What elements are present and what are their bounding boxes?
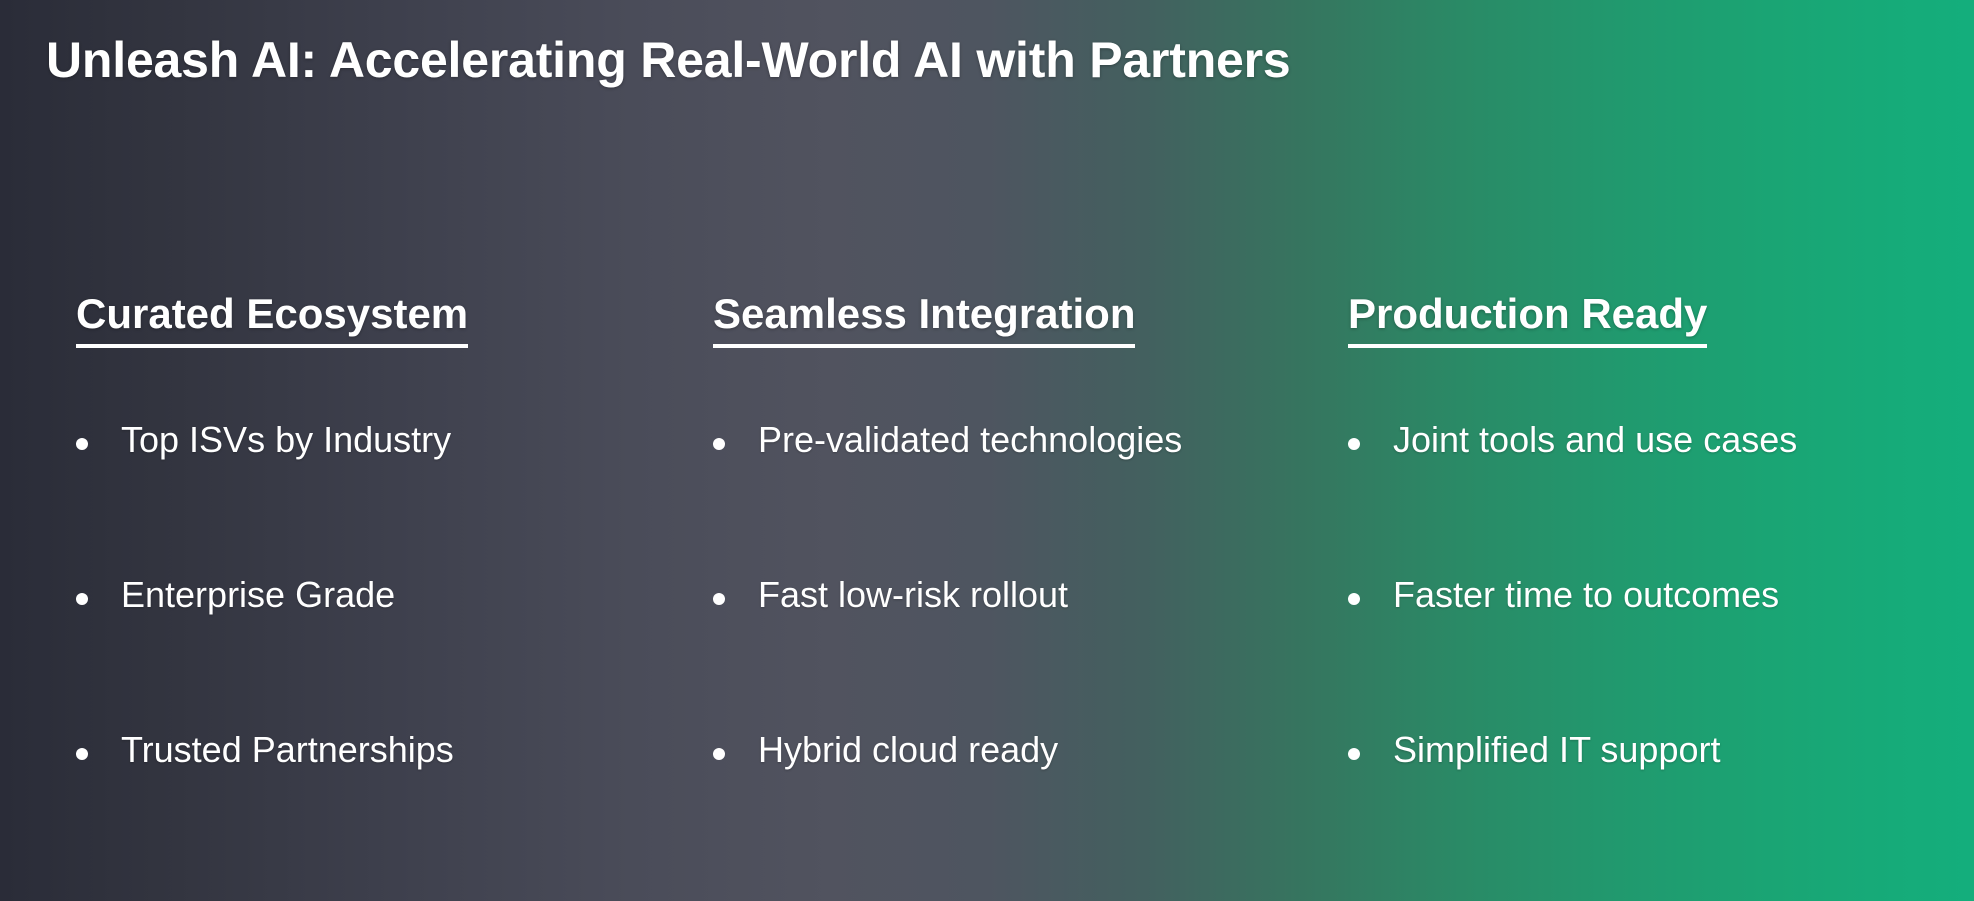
- bullet-dot-icon: [76, 593, 88, 605]
- list-item: Hybrid cloud ready: [713, 728, 1297, 883]
- list-item-label: Joint tools and use cases: [1393, 418, 1797, 461]
- bullet-dot-icon: [713, 438, 725, 450]
- list-item-label: Hybrid cloud ready: [758, 728, 1058, 771]
- columns-container: Curated Ecosystem Top ISVs by Industry E…: [0, 290, 1974, 883]
- bullet-dot-icon: [1348, 748, 1360, 760]
- list-item-label: Faster time to outcomes: [1393, 573, 1779, 616]
- column-heading-1: Curated Ecosystem: [76, 290, 468, 348]
- list-item: Fast low-risk rollout: [713, 573, 1297, 728]
- list-item-label: Simplified IT support: [1393, 728, 1720, 771]
- list-item: Pre-validated technologies: [713, 418, 1297, 573]
- bullet-dot-icon: [713, 593, 725, 605]
- bullet-dot-icon: [1348, 593, 1360, 605]
- page-title: Unleash AI: Accelerating Real-World AI w…: [46, 32, 1291, 90]
- column-heading-2: Seamless Integration: [713, 290, 1135, 348]
- list-item: Joint tools and use cases: [1348, 418, 1974, 573]
- bullet-dot-icon: [76, 438, 88, 450]
- bullet-dot-icon: [713, 748, 725, 760]
- column-seamless-integration: Seamless Integration Pre-validated techn…: [645, 290, 1297, 883]
- list-item: Trusted Partnerships: [76, 728, 645, 883]
- list-item-label: Trusted Partnerships: [121, 728, 454, 771]
- list-item: Top ISVs by Industry: [76, 418, 645, 573]
- bullet-list-3: Joint tools and use cases Faster time to…: [1348, 418, 1974, 883]
- column-heading-3: Production Ready: [1348, 290, 1707, 348]
- list-item: Simplified IT support: [1348, 728, 1974, 883]
- bullet-dot-icon: [1348, 438, 1360, 450]
- list-item: Enterprise Grade: [76, 573, 645, 728]
- list-item-label: Fast low-risk rollout: [758, 573, 1068, 616]
- list-item: Faster time to outcomes: [1348, 573, 1974, 728]
- column-curated-ecosystem: Curated Ecosystem Top ISVs by Industry E…: [0, 290, 645, 883]
- bullet-list-1: Top ISVs by Industry Enterprise Grade Tr…: [76, 418, 645, 883]
- list-item-label: Top ISVs by Industry: [121, 418, 451, 461]
- bullet-dot-icon: [76, 748, 88, 760]
- list-item-label: Enterprise Grade: [121, 573, 395, 616]
- column-production-ready: Production Ready Joint tools and use cas…: [1297, 290, 1974, 883]
- slide-canvas: Unleash AI: Accelerating Real-World AI w…: [0, 0, 1974, 901]
- list-item-label: Pre-validated technologies: [758, 418, 1182, 461]
- bullet-list-2: Pre-validated technologies Fast low-risk…: [713, 418, 1297, 883]
